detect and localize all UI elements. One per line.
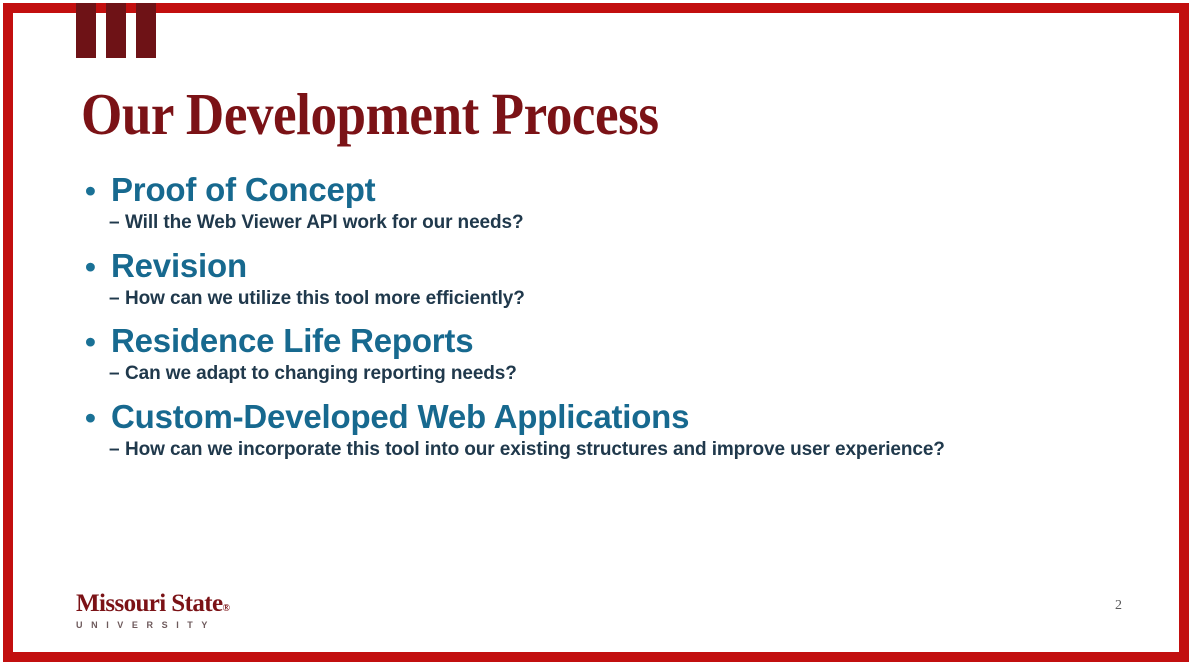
bullet-dot-icon: •: [78, 175, 111, 206]
bullet-title-3: Residence Life Reports: [111, 322, 473, 361]
bullet-title-1: Proof of Concept: [111, 171, 375, 210]
page-title: Our Development Process: [81, 85, 659, 144]
sub-bullet-dash-icon: –: [109, 212, 125, 235]
sub-bullet-item-2: – How can we utilize this tool more effi…: [13, 288, 1179, 311]
decorative-bar-1: [76, 3, 96, 58]
sub-bullet-dash-icon: –: [109, 439, 125, 462]
logo-subtitle: UNIVERSITY: [76, 620, 276, 630]
bullet-dot-icon: •: [78, 251, 111, 282]
bullet-item-2: • Revision: [13, 247, 1179, 286]
bullet-group-1: • Proof of Concept – Will the Web Viewer…: [13, 171, 1179, 235]
bullet-group-4: • Custom-Developed Web Applications – Ho…: [13, 398, 1179, 462]
sub-bullet-item-3: – Can we adapt to changing reporting nee…: [13, 363, 1179, 386]
bullet-group-3: • Residence Life Reports – Can we adapt …: [13, 322, 1179, 386]
bullet-item-4: • Custom-Developed Web Applications: [13, 398, 1179, 437]
bullet-item-1: • Proof of Concept: [13, 171, 1179, 210]
bullet-dot-icon: •: [78, 326, 111, 357]
bullet-title-2: Revision: [111, 247, 247, 286]
decorative-bar-3: [136, 3, 156, 58]
sub-bullet-item-1: – Will the Web Viewer API work for our n…: [13, 212, 1179, 235]
bullet-group-2: • Revision – How can we utilize this too…: [13, 247, 1179, 311]
page-number: 2: [1115, 598, 1122, 614]
sub-bullet-text-1: Will the Web Viewer API work for our nee…: [125, 212, 523, 235]
missouri-state-logo: Missouri State® UNIVERSITY: [76, 591, 276, 630]
slide-border-frame: Our Development Process • Proof of Conce…: [3, 3, 1189, 662]
sub-bullet-dash-icon: –: [109, 288, 125, 311]
logo-wordmark-text: Missouri State: [76, 590, 222, 617]
decorative-bars: [76, 3, 156, 58]
bullet-list: • Proof of Concept – Will the Web Viewer…: [13, 171, 1179, 474]
logo-wordmark: Missouri State®: [76, 591, 276, 616]
sub-bullet-item-4: – How can we incorporate this tool into …: [13, 439, 1179, 462]
sub-bullet-dash-icon: –: [109, 363, 125, 386]
bullet-title-4: Custom-Developed Web Applications: [111, 398, 689, 437]
decorative-bar-2: [106, 3, 126, 58]
bullet-item-3: • Residence Life Reports: [13, 322, 1179, 361]
registered-trademark-icon: ®: [222, 603, 229, 614]
slide-body: Our Development Process • Proof of Conce…: [13, 13, 1179, 652]
bullet-dot-icon: •: [78, 402, 111, 433]
sub-bullet-text-2: How can we utilize this tool more effici…: [125, 288, 525, 311]
sub-bullet-text-3: Can we adapt to changing reporting needs…: [125, 363, 517, 386]
sub-bullet-text-4: How can we incorporate this tool into ou…: [125, 439, 945, 462]
slide: Our Development Process • Proof of Conce…: [0, 0, 1193, 666]
